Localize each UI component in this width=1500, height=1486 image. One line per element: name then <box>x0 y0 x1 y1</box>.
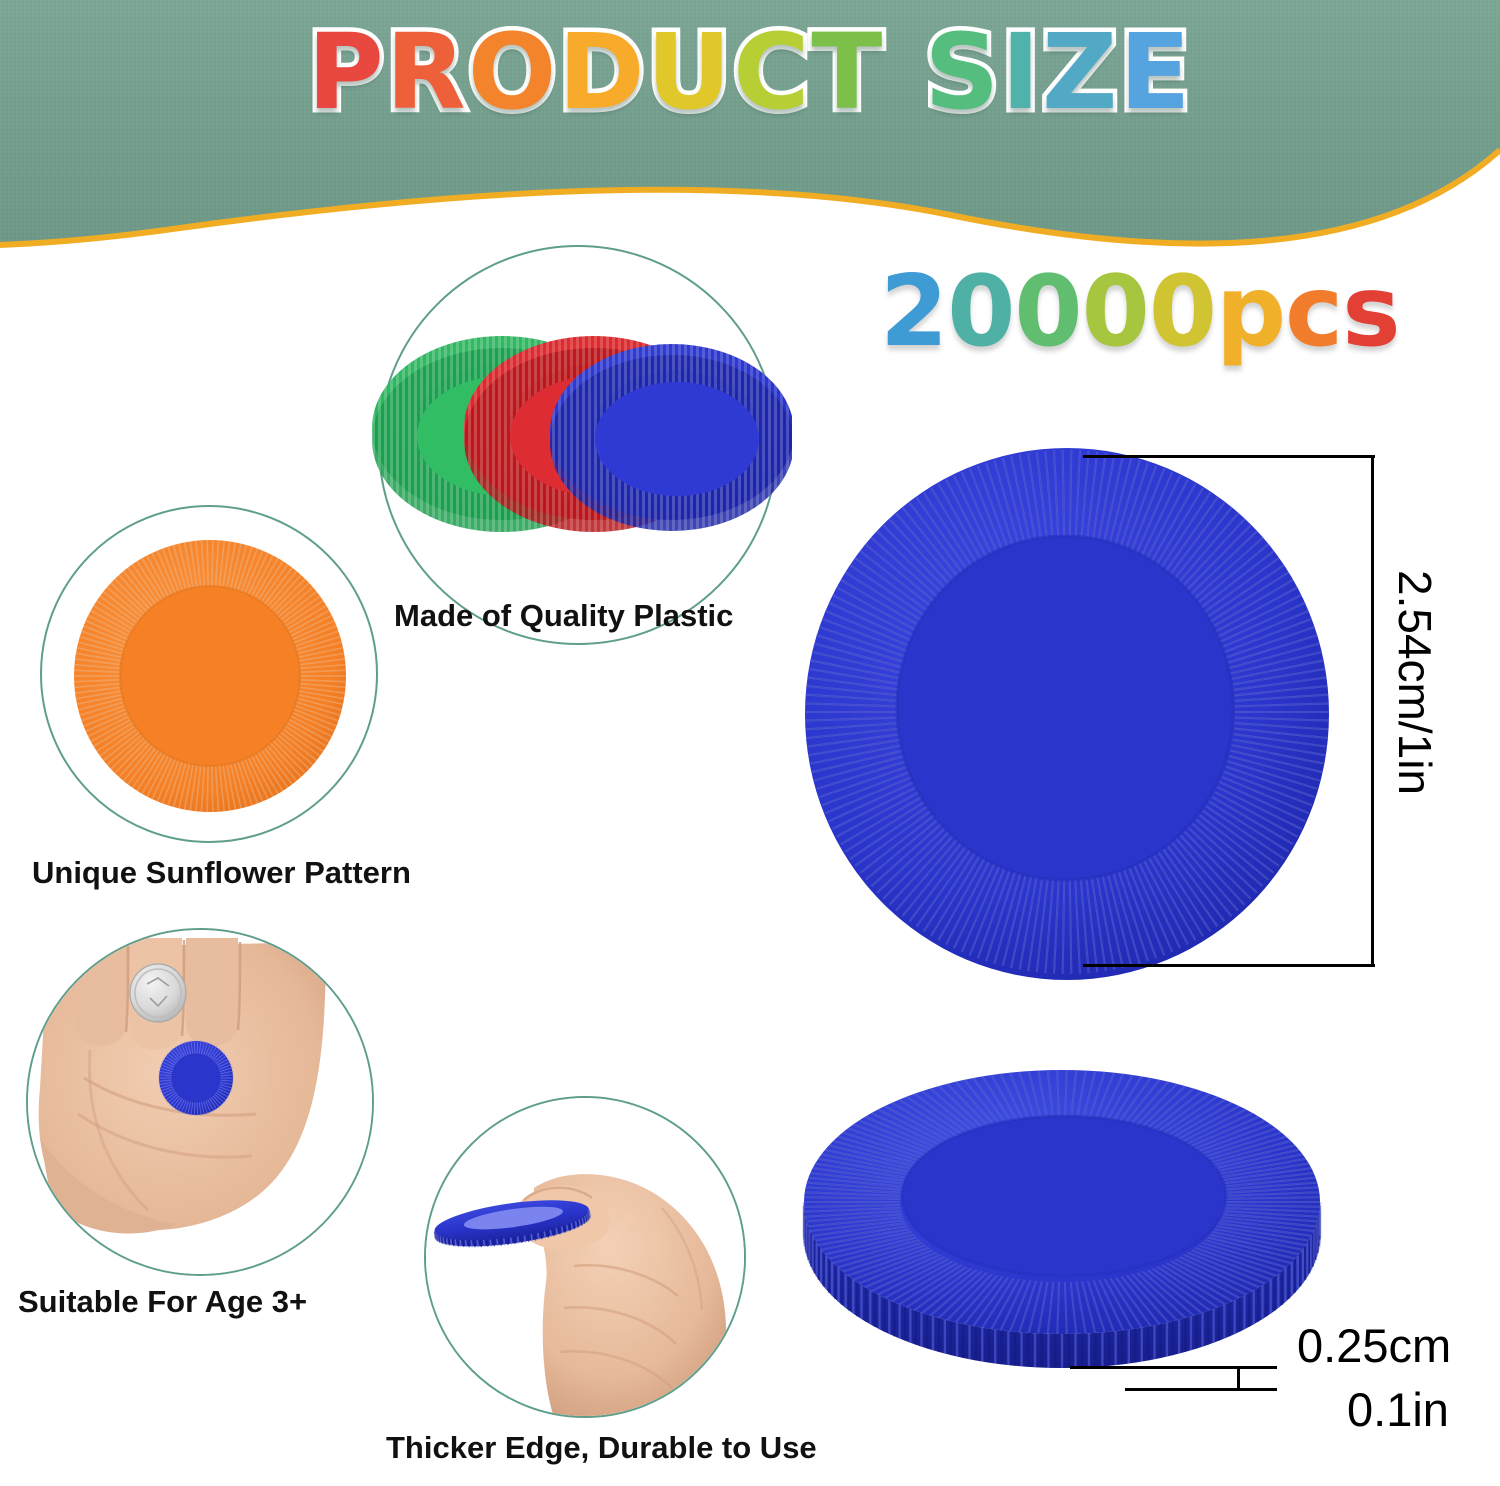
diameter-dim-tick-bottom <box>1083 964 1375 967</box>
title-letter-1: R <box>386 14 468 130</box>
title-letter-0: P <box>308 14 386 130</box>
diameter-dim-label: 2.54cm/1in <box>1388 570 1442 795</box>
caption-sunflower-pattern: Unique Sunflower Pattern <box>32 855 411 891</box>
thickness-dim-connector <box>1237 1366 1240 1391</box>
title-letter-11: E <box>1119 14 1192 130</box>
quantity-letter-3: 0 <box>1082 255 1149 369</box>
thickness-dim-line-bottom <box>1125 1388 1277 1391</box>
quantity-letter-4: 0 <box>1149 255 1216 369</box>
title-letter-9: I <box>1001 14 1042 130</box>
blue-chip-thickness-view <box>790 1020 1350 1420</box>
title-letter-8: S <box>924 14 1001 130</box>
caption-age-suitability: Suitable For Age 3+ <box>18 1284 307 1320</box>
title-letter-10: Z <box>1042 14 1119 130</box>
diameter-dim-tick-top <box>1083 455 1375 458</box>
title-letter-2: O <box>468 14 558 130</box>
product-size-infographic: PRODUCT SIZE 20000pcs <box>0 0 1500 1486</box>
title-letter-4: U <box>647 14 733 130</box>
quantity-letter-2: 0 <box>1014 255 1081 369</box>
main-blue-chip-front <box>795 440 1340 985</box>
caption-quality-plastic: Made of Quality Plastic <box>394 598 733 634</box>
thickness-dim-line-top <box>1070 1366 1277 1369</box>
header-banner: PRODUCT SIZE <box>0 0 1500 262</box>
quantity-letter-7: s <box>1342 255 1399 369</box>
page-title: PRODUCT SIZE <box>0 14 1500 130</box>
title-letter-6: T <box>811 14 884 130</box>
title-space <box>884 14 924 130</box>
title-letter-5: C <box>733 14 811 130</box>
diameter-dim-vertical-line <box>1371 455 1374 967</box>
thickness-label-inch: 0.1in <box>1347 1382 1449 1437</box>
quantity-letter-6: c <box>1285 255 1342 369</box>
quantity-badge: 20000pcs <box>880 255 1400 369</box>
thickness-label-cm: 0.25cm <box>1297 1318 1451 1373</box>
caption-thicker-edge: Thicker Edge, Durable to Use <box>386 1430 817 1466</box>
hand-holding-chip-edge <box>424 1096 746 1418</box>
quantity-letter-1: 0 <box>947 255 1014 369</box>
orange-chip-sunflower <box>64 530 356 822</box>
title-letter-3: D <box>558 14 646 130</box>
stacked-chips-illustration <box>372 280 792 580</box>
hand-with-coin-and-chip <box>26 928 374 1276</box>
quantity-letter-0: 2 <box>880 255 947 369</box>
quantity-letter-5: p <box>1216 255 1285 369</box>
